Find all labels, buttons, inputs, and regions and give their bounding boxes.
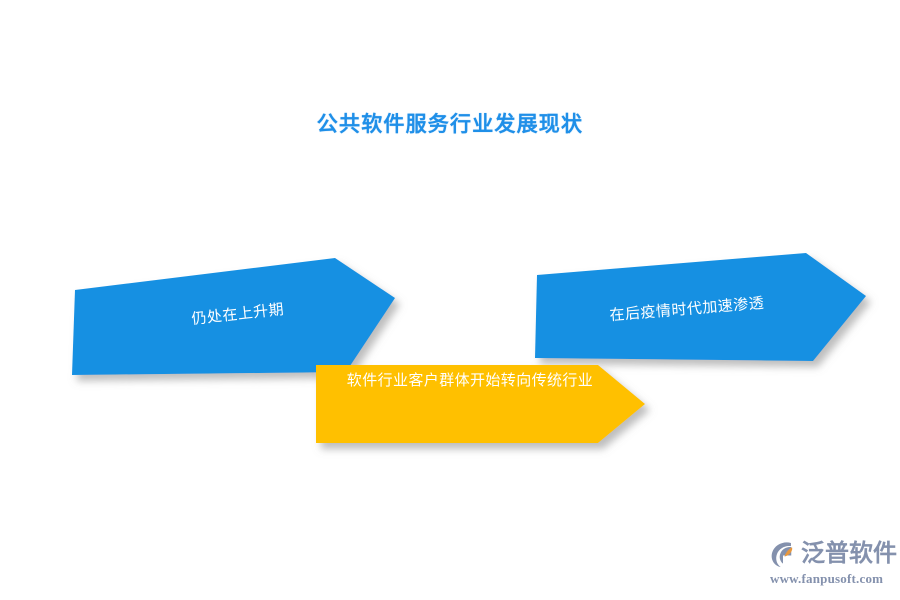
fanpu-logo-icon [768,539,798,569]
watermark-brand-row: 泛普软件 [768,538,894,570]
watermark-url: www.fanpusoft.com [770,571,894,587]
slide-canvas: 公共软件服务行业发展现状 仍处在上升期 软件行业客户群体开始转向传统行业 在后疫… [0,0,900,600]
arrow-diagram [0,0,900,600]
watermark-brand-name: 泛普软件 [801,539,897,569]
arrow-shape-middle[interactable] [316,365,645,443]
arrow-shape-right[interactable] [535,253,866,361]
arrow-shape-left[interactable] [72,258,395,375]
watermark-logo: 泛普软件 www.fanpusoft.com [768,538,894,590]
arrow-diagram-svg [0,0,900,600]
